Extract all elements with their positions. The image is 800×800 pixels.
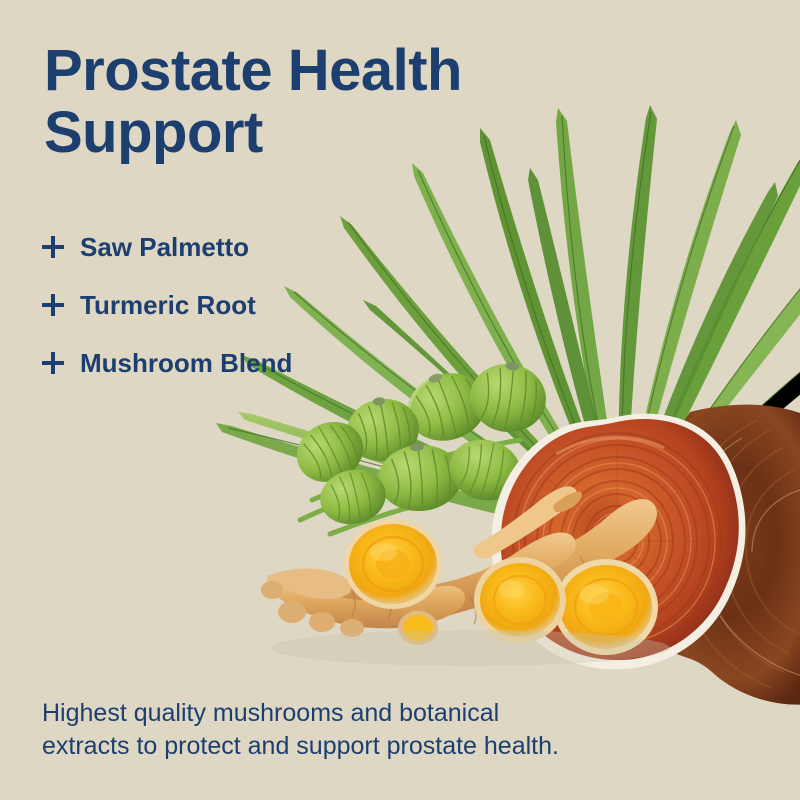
plus-icon bbox=[40, 234, 70, 260]
text-layer: Prostate Health Support Saw Palmetto Tur… bbox=[0, 0, 800, 800]
caption-text: Highest quality mushrooms and botanical … bbox=[42, 697, 642, 763]
plus-icon bbox=[40, 292, 70, 318]
poster-canvas: Prostate Health Support Saw Palmetto Tur… bbox=[0, 0, 800, 800]
list-item: Mushroom Blend bbox=[40, 334, 370, 392]
ingredient-list: Saw Palmetto Turmeric Root Mushroom Blen… bbox=[40, 218, 370, 392]
list-item: Saw Palmetto bbox=[40, 218, 370, 276]
ingredient-label: Saw Palmetto bbox=[80, 232, 249, 263]
page-title: Prostate Health Support bbox=[44, 40, 564, 164]
ingredient-label: Mushroom Blend bbox=[80, 348, 292, 379]
list-item: Turmeric Root bbox=[40, 276, 370, 334]
ingredient-label: Turmeric Root bbox=[80, 290, 256, 321]
plus-icon bbox=[40, 350, 70, 376]
